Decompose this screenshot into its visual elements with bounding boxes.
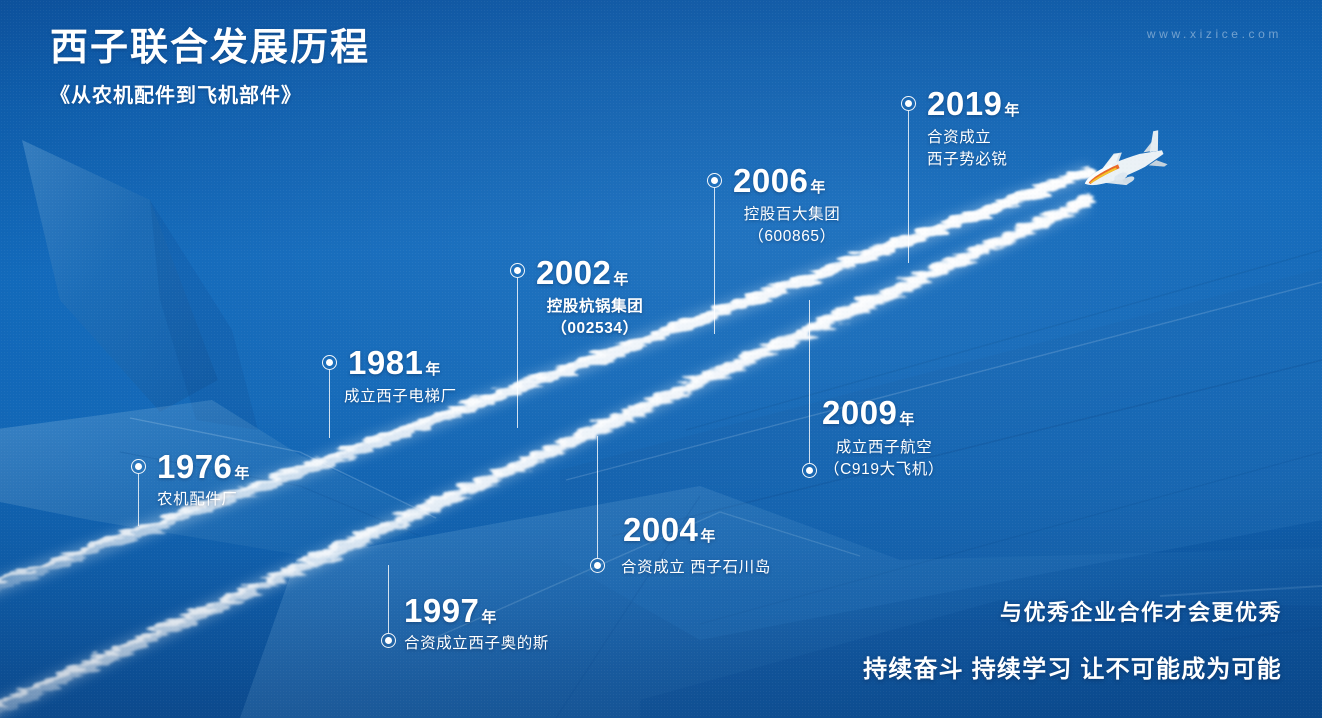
timeline-desc-1976: 农机配件厂	[157, 489, 238, 511]
timeline-marker-1997[interactable]	[381, 633, 396, 648]
timeline-year-2002: 2002年	[536, 256, 628, 289]
timeline-stem-2019	[908, 111, 909, 263]
timeline-desc-1981: 成立西子电梯厂	[344, 386, 457, 408]
infographic-canvas: 西子联合发展历程 《从农机配件到飞机部件》 www.xizice.com 197…	[0, 0, 1322, 718]
timeline-desc-2009: 成立西子航空 （C919大飞机）	[815, 437, 953, 482]
slogan-line-1: 与优秀企业合作才会更优秀	[863, 595, 1282, 627]
timeline-year-2006: 2006年	[733, 164, 825, 197]
timeline-stem-2006	[714, 188, 715, 334]
timeline-stem-2009	[809, 300, 810, 463]
timeline-desc-2019: 合资成立 西子势必锐	[927, 127, 1008, 172]
header-block: 西子联合发展历程 《从农机配件到飞机部件》	[50, 28, 370, 108]
page-title: 西子联合发展历程	[50, 28, 370, 70]
page-subtitle: 《从农机配件到飞机部件》	[50, 79, 370, 108]
timeline-stem-1997	[388, 565, 389, 633]
timeline-desc-2002: 控股杭锅集团 （002534）	[530, 296, 660, 341]
timeline-stem-2004	[597, 436, 598, 558]
timeline-stem-1976	[138, 474, 139, 526]
timeline-year-1981: 1981年	[348, 346, 440, 379]
timeline-marker-2002[interactable]	[510, 263, 525, 278]
timeline-desc-2004: 合资成立 西子石川岛	[621, 557, 771, 579]
slogan-line-2: 持续奋斗 持续学习 让不可能成为可能	[863, 649, 1282, 684]
timeline-marker-1976[interactable]	[131, 459, 146, 474]
timeline-stem-2002	[517, 278, 518, 428]
timeline-desc-1997: 合资成立西子奥的斯	[404, 633, 549, 655]
timeline-year-1976: 1976年	[157, 450, 249, 483]
timeline-marker-2019[interactable]	[901, 96, 916, 111]
timeline-year-2019: 2019年	[927, 87, 1019, 120]
timeline-marker-2006[interactable]	[707, 173, 722, 188]
timeline-marker-2004[interactable]	[590, 558, 605, 573]
timeline-marker-1981[interactable]	[322, 355, 337, 370]
slogan-block: 与优秀企业合作才会更优秀 持续奋斗 持续学习 让不可能成为可能	[863, 595, 1282, 684]
timeline-desc-2006: 控股百大集团 （600865）	[728, 204, 856, 249]
timeline-year-2009: 2009年	[822, 396, 914, 429]
timeline-year-2004: 2004年	[623, 513, 715, 546]
timeline-stem-1981	[329, 370, 330, 438]
timeline-year-1997: 1997年	[404, 594, 496, 627]
airplane-icon	[1062, 126, 1180, 212]
site-watermark: www.xizice.com	[1147, 27, 1282, 41]
